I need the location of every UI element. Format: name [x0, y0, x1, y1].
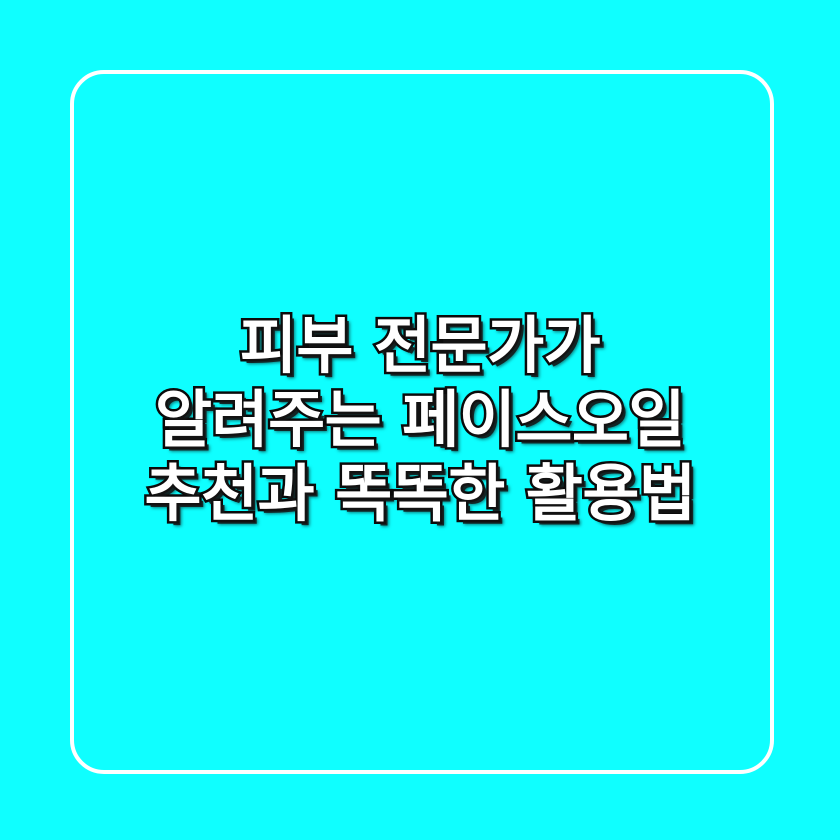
headline-line-1: 피부 전문가가 [74, 309, 766, 383]
thumbnail-card: 피부 전문가가 알려주는 페이스오일 추천과 똑똑한 활용법 [0, 0, 840, 840]
headline-block: 피부 전문가가 알려주는 페이스오일 추천과 똑똑한 활용법 [0, 0, 840, 840]
headline-line-3: 추천과 똑똑한 활용법 [74, 457, 766, 531]
headline-line-2: 알려주는 페이스오일 [74, 383, 766, 457]
